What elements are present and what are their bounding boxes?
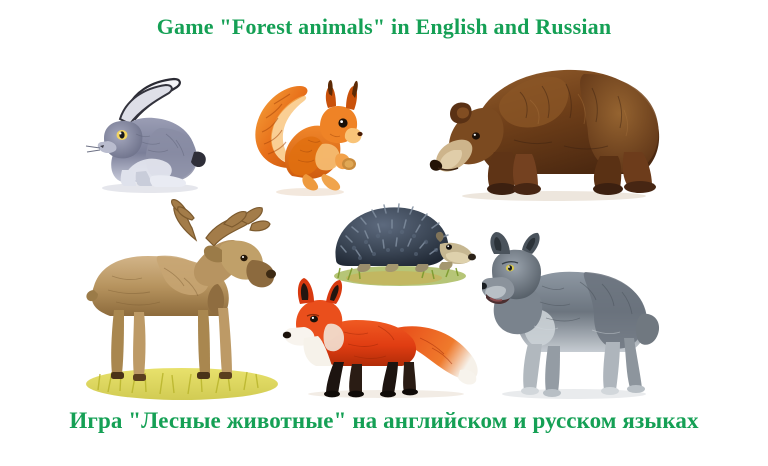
wolf-icon xyxy=(482,226,662,402)
squirrel-icon xyxy=(248,72,364,200)
animals-collage xyxy=(0,48,768,398)
page-title-russian: Игра "Лесные животные" на английском и р… xyxy=(0,408,768,434)
fox-icon xyxy=(282,270,490,398)
elk-icon xyxy=(72,198,288,404)
bear-icon xyxy=(424,54,672,202)
hare-icon xyxy=(78,76,218,196)
page-root: Game "Forest animals" in English and Rus… xyxy=(0,0,768,466)
page-title-english: Game "Forest animals" in English and Rus… xyxy=(0,14,768,40)
